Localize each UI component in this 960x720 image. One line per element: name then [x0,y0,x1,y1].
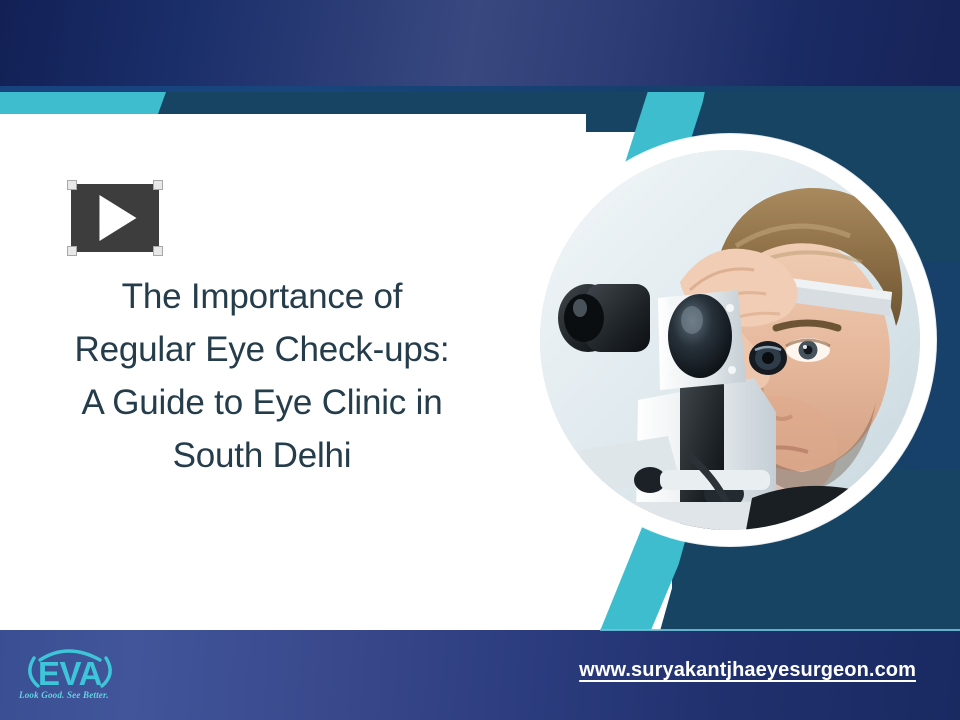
eye-exam-illustration [540,150,920,530]
footer-accent-line [600,629,960,631]
slide-title: The Importance of Regular Eye Check-ups:… [18,270,506,482]
patient-photo [540,150,920,530]
presentation-slide: The Importance of Regular Eye Check-ups:… [0,0,960,720]
resize-handle-top-right[interactable] [153,180,163,190]
play-triangle-icon [99,195,136,241]
resize-handle-bottom-left[interactable] [67,246,77,256]
photo-ring [524,134,936,546]
resize-handle-top-left[interactable] [67,180,77,190]
play-button-background [71,184,159,252]
slide-footer: EVA Look Good. See Better. www.suryakant… [0,630,960,720]
eva-logo-mark: EVA [16,644,126,694]
top-teal-bar [0,92,176,114]
resize-handle-bottom-right[interactable] [153,246,163,256]
svg-text:EVA: EVA [38,655,102,692]
eva-logo-tagline: Look Good. See Better. [19,690,127,700]
eva-logo: EVA Look Good. See Better. [16,644,126,706]
website-url-link[interactable]: www.suryakantjhaeyesurgeon.com [579,659,916,682]
video-play-button[interactable] [67,180,163,256]
